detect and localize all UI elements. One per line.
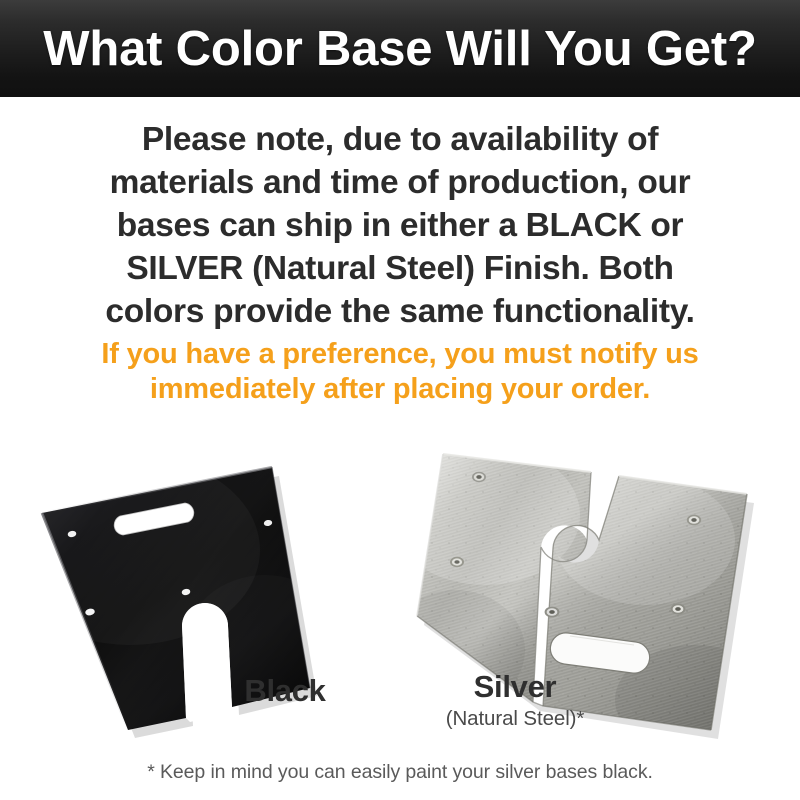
preference-warning-text: If you have a preference, you must notif… (58, 337, 742, 407)
availability-note-text: Please note, due to availability of mate… (78, 118, 722, 333)
caption-silver-subtitle: (Natural Steel)* (405, 707, 625, 731)
page-title: What Color Base Will You Get? (0, 0, 800, 97)
caption-black: Black (185, 673, 385, 709)
footnote-text: * Keep in mind you can easily paint your… (40, 761, 760, 784)
product-photo-stage (0, 415, 800, 745)
product-color-notice-banner: What Color Base Will You Get? Please not… (0, 0, 800, 800)
caption-silver: Silver (405, 669, 625, 705)
